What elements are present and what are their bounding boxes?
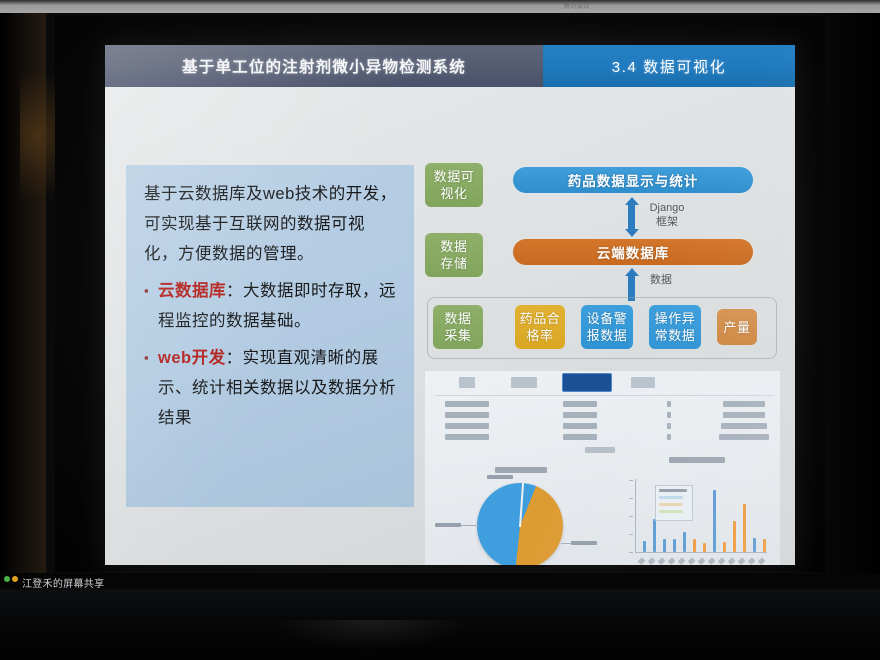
node-label-line1: 设备警 — [587, 310, 628, 327]
slide-title-band: 基于单工位的注射剂微小异物检测系统 — [105, 45, 543, 87]
table-cell — [445, 401, 489, 407]
x-tick-label — [658, 557, 666, 565]
y-tick — [629, 498, 633, 499]
node-operation-exception-data: 操作异 常数据 — [649, 305, 701, 349]
pill-label: 药品数据显示与统计 — [568, 170, 699, 190]
bar — [733, 521, 736, 552]
bar — [693, 539, 696, 552]
x-tick-label — [688, 557, 696, 565]
section-title: 3.4 数据可视化 — [612, 56, 726, 77]
bar-chart-y-axis — [635, 479, 636, 553]
group-label-line2: 存储 — [440, 255, 467, 272]
node-label-line2: 采集 — [444, 327, 471, 344]
share-indicator-icons — [4, 576, 18, 582]
x-tick-label — [698, 557, 706, 565]
x-tick-label — [638, 557, 646, 565]
x-tick-label — [708, 557, 716, 565]
bullet-body: web开发：实现直观清晰的展示、统计相关数据以及数据分析结果 — [158, 343, 398, 433]
node-label-line2: 常数据 — [655, 327, 696, 344]
table-cell — [445, 434, 489, 440]
x-tick-label — [648, 557, 656, 565]
table-cell — [445, 412, 489, 418]
table-cell — [667, 434, 671, 440]
presentation-slide: 基于单工位的注射剂微小异物检测系统 3.4 数据可视化 基于云数据库及web技术… — [105, 45, 795, 565]
x-tick-label — [748, 557, 756, 565]
x-tick-label — [718, 557, 726, 565]
node-label-line1: 数据 — [444, 310, 471, 327]
bar — [653, 519, 656, 552]
bullet-item-web-dev: ▪ web开发：实现直观清晰的展示、统计相关数据以及数据分析结果 — [144, 343, 398, 433]
table-footer-text — [585, 447, 615, 453]
table-cell — [563, 401, 597, 407]
node-label-line2: 格率 — [526, 327, 553, 344]
table-cell — [667, 401, 671, 407]
node-label-line1: 药品合 — [520, 310, 561, 327]
pie-leader-line — [561, 543, 571, 544]
table-cell — [667, 423, 671, 429]
bullet-body: 云数据库：大数据即时存取，远程监控的数据基础。 — [158, 276, 398, 336]
x-tick-label — [728, 557, 736, 565]
x-tick-label — [668, 557, 676, 565]
y-tick — [629, 534, 633, 535]
screen-top-bezel — [0, 0, 880, 13]
bar — [713, 490, 716, 552]
panel-paragraph: 基于云数据库及web技术的开发，可实现基于互联网的数据可视化，方便数据的管理。 — [144, 179, 398, 269]
bar-chart-tooltip — [655, 485, 693, 521]
bullet-keyword: 云数据库 — [158, 282, 226, 300]
desk-reflection — [270, 620, 470, 650]
table-header-cell — [459, 377, 475, 388]
table-header-cell — [631, 377, 655, 388]
table-cell — [563, 434, 597, 440]
arrow-label-line1: 数据 — [641, 273, 681, 287]
bar — [703, 543, 706, 552]
pie-leader-line — [461, 525, 479, 526]
node-output: 产量 — [717, 309, 757, 345]
pill-cloud-database: 云端数据库 — [513, 239, 753, 265]
data-table-thumbnail — [435, 377, 773, 445]
arrow-label-line1: Django — [641, 201, 693, 215]
embedded-web-screenshot — [425, 371, 780, 565]
y-tick — [629, 516, 633, 517]
tooltip-line — [659, 489, 687, 492]
bar-chart-x-axis — [635, 552, 767, 553]
arrow-head-up-icon — [625, 197, 639, 205]
screen-share-bar — [0, 573, 880, 588]
arrow-head-down-icon — [625, 229, 639, 237]
slide-header: 基于单工位的注射剂微小异物检测系统 3.4 数据可视化 — [105, 45, 795, 87]
bullet-keyword: web开发 — [158, 349, 226, 367]
pie-label-left — [435, 523, 461, 527]
node-label-line1: 产量 — [723, 319, 750, 336]
page-title: 基于单工位的注射剂微小异物检测系统 — [182, 55, 466, 77]
table-cell — [719, 434, 769, 440]
table-cell — [445, 423, 489, 429]
group-label-line1: 数据 — [440, 238, 467, 255]
share-warning-dot-icon — [12, 576, 18, 582]
arrow-label-django: Django 框架 — [641, 201, 693, 229]
pill-label: 云端数据库 — [597, 242, 670, 262]
bar — [753, 538, 756, 552]
bar — [743, 504, 746, 552]
top-strip-label: 腾讯会议 — [564, 1, 590, 9]
arrow-shaft-django — [628, 203, 635, 231]
node-label-line1: 操作异 — [655, 310, 696, 327]
tooltip-line — [659, 496, 683, 499]
table-header-cell-active — [563, 374, 611, 391]
table-cell — [721, 423, 767, 429]
arrow-head-up-icon — [625, 268, 639, 276]
architecture-diagram: 数据可 视化 数据 存储 药品数据显示与统计 Django 框架 云端数据库 — [425, 157, 780, 367]
projected-screen-photo: 腾讯会议 基于单工位的注射剂微小异物检测系统 3.4 数据可视化 基于云数据库及… — [0, 0, 880, 660]
bar — [683, 532, 686, 552]
table-row-divider — [435, 395, 773, 396]
bullet-marker-icon: ▪ — [144, 343, 158, 433]
pie-chart-title — [495, 467, 547, 473]
bullet-separator: ： — [226, 349, 243, 367]
windows-taskbar: ▦ ⌕ ▭ P 利用毕业PPT.pptx ... W ▶ M 腾讯会议 M — [0, 590, 880, 618]
bullet-marker-icon: ▪ — [144, 276, 158, 336]
tooltip-line — [659, 510, 683, 513]
arrow-label-line2: 框架 — [641, 215, 693, 229]
x-tick-label — [738, 557, 746, 565]
y-tick — [629, 552, 633, 553]
bar — [673, 539, 676, 552]
x-tick-label — [678, 557, 686, 565]
node-data-collection: 数据 采集 — [433, 305, 483, 349]
bar — [723, 542, 726, 552]
table-cell — [723, 401, 765, 407]
bar-chart-title — [669, 457, 725, 463]
table-cell — [667, 412, 671, 418]
table-cell — [723, 412, 765, 418]
slide-section-band: 3.4 数据可视化 — [543, 45, 795, 87]
bar — [643, 541, 646, 552]
x-tick-label — [758, 557, 766, 565]
pie-label-right — [571, 541, 597, 545]
group-label-visualization: 数据可 视化 — [425, 163, 483, 207]
bar — [763, 539, 766, 552]
bullet-separator: ： — [226, 282, 243, 300]
share-active-dot-icon — [4, 576, 10, 582]
tooltip-line — [659, 503, 683, 506]
bar-chart — [621, 467, 771, 565]
pill-drug-data-display: 药品数据显示与统计 — [513, 167, 753, 193]
group-label-line1: 数据可 — [434, 168, 475, 185]
bullet-item-cloud-db: ▪ 云数据库：大数据即时存取，远程监控的数据基础。 — [144, 276, 398, 336]
bar — [663, 539, 666, 552]
group-label-line2: 视化 — [440, 185, 467, 202]
text-panel: 基于云数据库及web技术的开发，可实现基于互联网的数据可视化，方便数据的管理。 … — [126, 165, 414, 507]
node-device-alarm-data: 设备警 报数据 — [581, 305, 633, 349]
node-label-line2: 报数据 — [587, 327, 628, 344]
table-header-cell — [511, 377, 537, 388]
y-tick — [629, 480, 633, 481]
arrow-label-data: 数据 — [641, 273, 681, 287]
group-label-storage: 数据 存储 — [425, 233, 483, 277]
table-cell — [563, 412, 597, 418]
table-cell — [563, 423, 597, 429]
pie-label-top — [487, 475, 513, 479]
node-qualification-rate: 药品合 格率 — [515, 305, 565, 349]
